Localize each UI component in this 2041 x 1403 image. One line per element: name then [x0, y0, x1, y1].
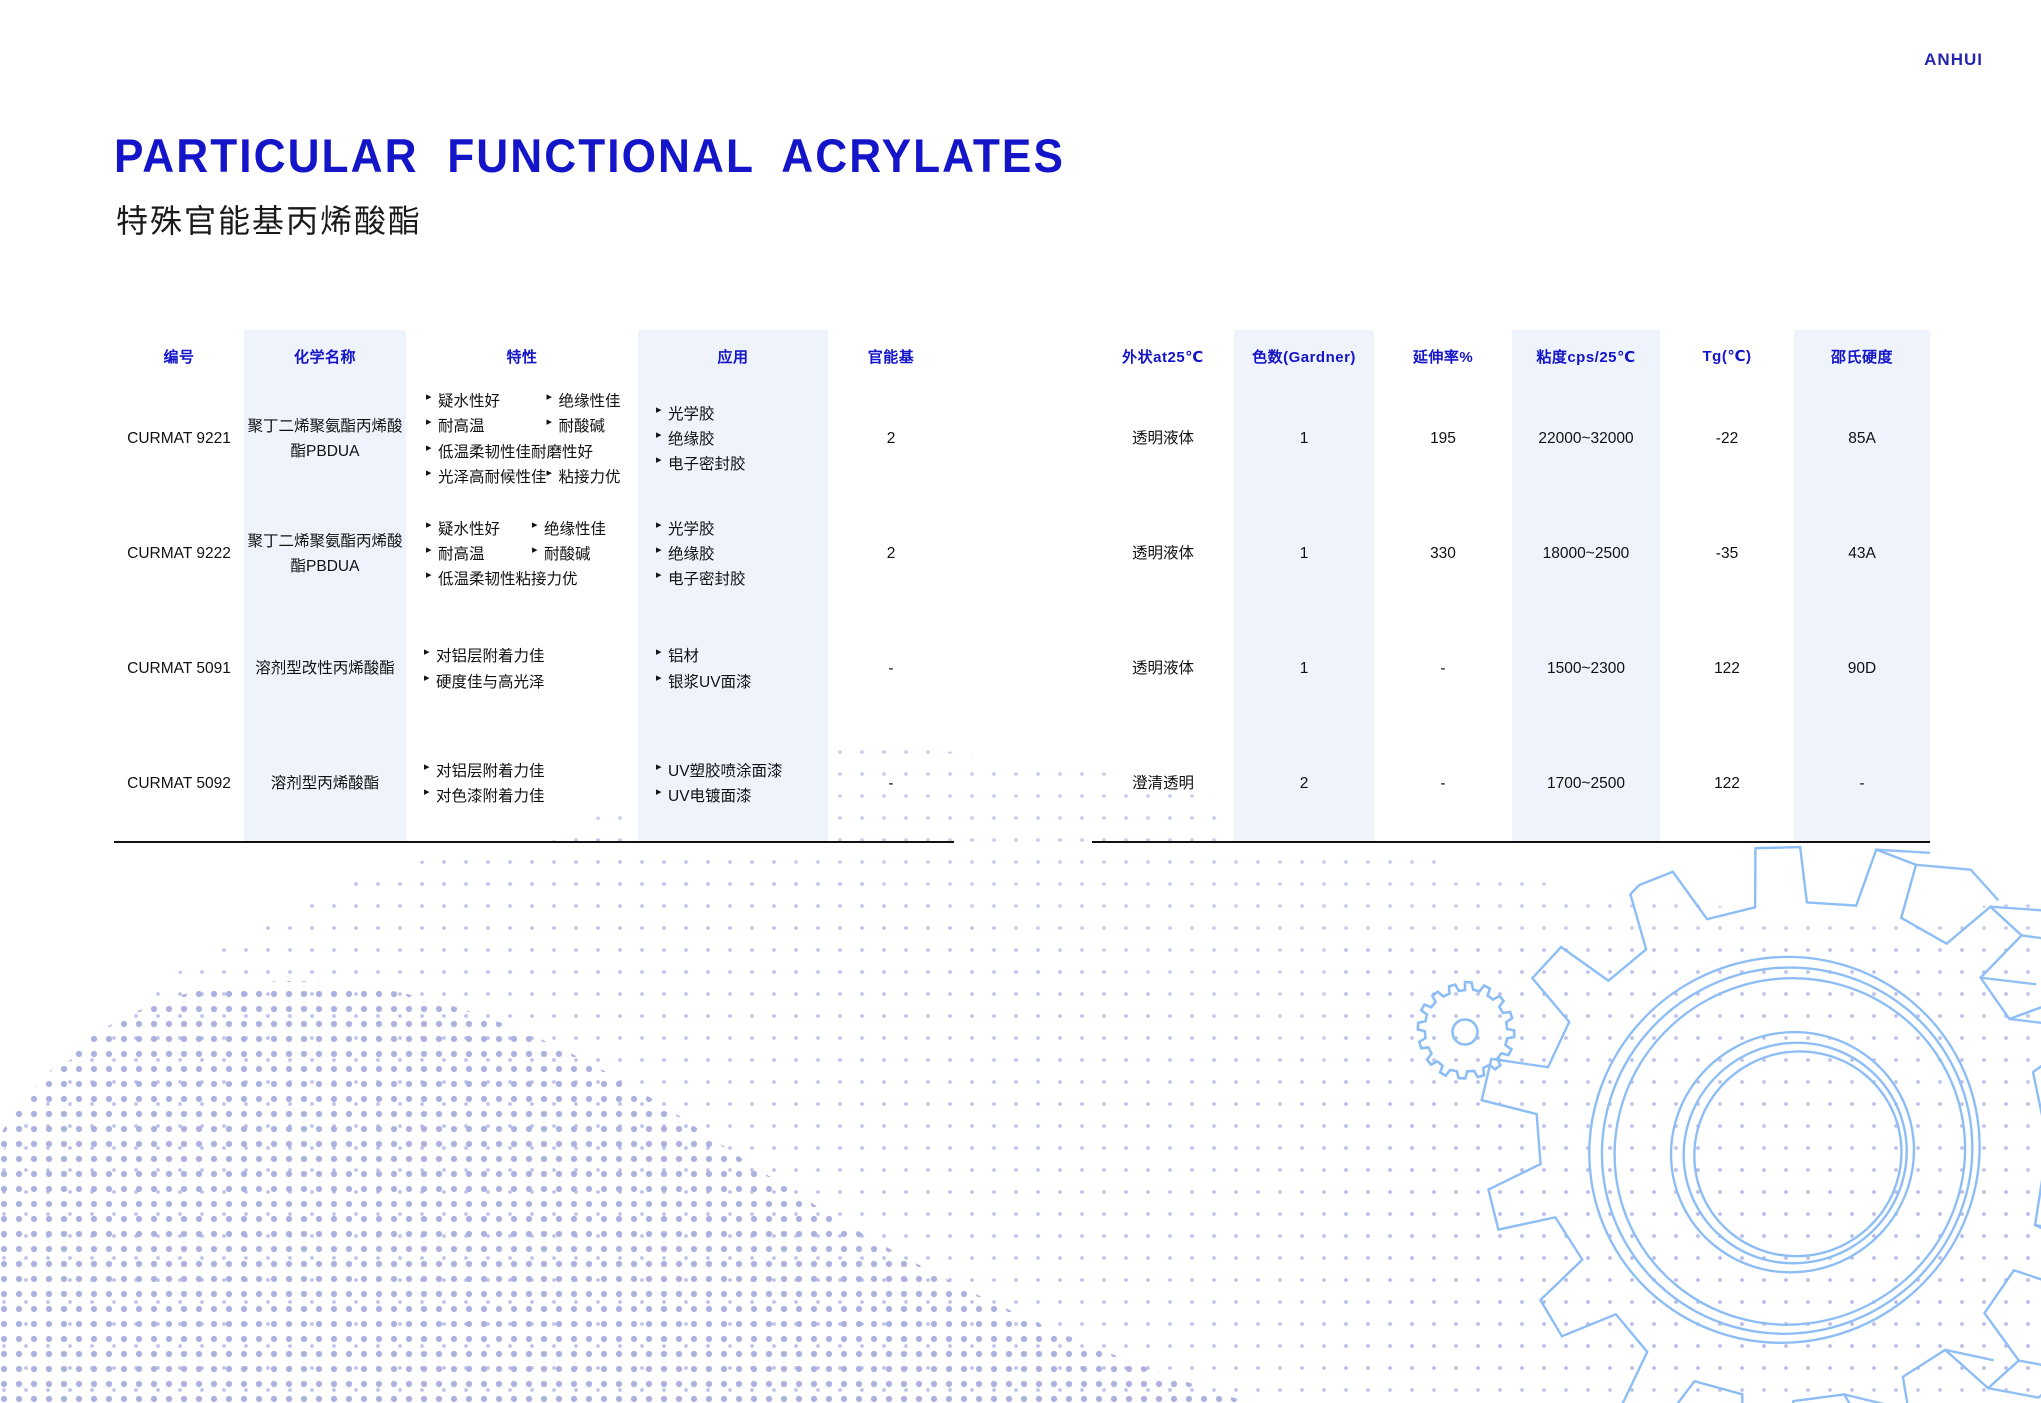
col-header-functionality: 官能基 — [828, 330, 954, 382]
cell-functionality: - — [828, 727, 954, 842]
feature-item: 对色漆附着力佳 — [424, 784, 638, 809]
cell-elongation: 330 — [1374, 497, 1512, 612]
table-row: CURMAT 5092 溶剂型丙烯酸酯 对铝层附着力佳 对色漆附着力佳 UV塑胶… — [114, 727, 954, 842]
application-item: 银浆UV面漆 — [656, 670, 828, 695]
feature-list: 对铝层附着力佳 硬度佳与高光泽 — [406, 644, 638, 694]
cell-viscosity: 1700~2500 — [1512, 727, 1660, 842]
cell-shore-hardness: 43A — [1794, 497, 1930, 612]
cell-elongation: - — [1374, 727, 1512, 842]
cell-shore-hardness: 85A — [1794, 382, 1930, 497]
feature-item: 耐酸碱 — [547, 414, 638, 439]
col-header-elongation: 延伸率% — [1374, 330, 1512, 382]
cell-functionality: 2 — [828, 497, 954, 612]
cell-appearance: 澄清透明 — [1092, 727, 1234, 842]
feature-item: 疑水性好 — [426, 517, 532, 542]
col-header-viscosity: 粘度cps/25℃ — [1512, 330, 1660, 382]
feature-item: 对铝层附着力佳 — [424, 644, 638, 669]
dot-field-right — [1330, 940, 2030, 1380]
table-row: CURMAT 5091 溶剂型改性丙烯酸酯 对铝层附着力佳 硬度佳与高光泽 铝材… — [114, 612, 954, 727]
table-row: 透明液体 1 330 18000~2500 -35 43A — [1092, 497, 1930, 612]
feature-item: 对铝层附着力佳 — [424, 759, 638, 784]
cell-chemical-name: 溶剂型丙烯酸酯 — [244, 727, 406, 842]
cell-viscosity: 1500~2300 — [1512, 612, 1660, 727]
application-item: 绝缘胶 — [656, 427, 828, 452]
cell-appearance: 透明液体 — [1092, 612, 1234, 727]
cell-appearance: 透明液体 — [1092, 497, 1234, 612]
feature-item: 耐高温 — [426, 414, 547, 439]
cell-functionality: - — [828, 612, 954, 727]
cell-code: CURMAT 5092 — [114, 727, 244, 842]
col-header-chemical-name: 化学名称 — [244, 330, 406, 382]
spec-table-left: 编号 化学名称 特性 应用 官能基 CURMAT 9221 聚丁二烯聚氨酯丙烯酸… — [114, 330, 954, 843]
company-logo: ANHUI — [1924, 50, 1983, 70]
application-list: 铝材 银浆UV面漆 — [638, 644, 828, 694]
table-row: CURMAT 9221 聚丁二烯聚氨酯丙烯酸酯PBDUA 疑水性好 绝缘性佳 耐… — [114, 382, 954, 497]
application-item: 铝材 — [656, 644, 828, 669]
col-header-features: 特性 — [406, 330, 638, 382]
feature-item: 耐酸碱 — [532, 542, 638, 567]
cell-appearance: 透明液体 — [1092, 382, 1234, 497]
cell-features: 疑水性好 绝缘性佳 耐高温 耐酸碱 低温柔韧性佳耐磨性好 光泽高耐候性佳 粘接力… — [406, 382, 638, 497]
property-table-right: 外状at25℃ 色数(Gardner) 延伸率% 粘度cps/25℃ Tg(℃)… — [1092, 330, 1930, 843]
cell-applications: UV塑胶喷涂面漆 UV电镀面漆 — [638, 727, 828, 842]
cell-tg: 122 — [1660, 727, 1794, 842]
table-left-body: CURMAT 9221 聚丁二烯聚氨酯丙烯酸酯PBDUA 疑水性好 绝缘性佳 耐… — [114, 382, 954, 842]
col-header-shore-hardness: 邵氏硬度 — [1794, 330, 1930, 382]
gear-small-icon — [1418, 982, 1514, 1078]
feature-list: 疑水性好 绝缘性佳 耐高温 耐酸碱 低温柔韧性粘接力优 — [406, 517, 638, 592]
cell-chemical-name: 聚丁二烯聚氨酯丙烯酸酯PBDUA — [244, 382, 406, 497]
page-subtitle: 特殊官能基丙烯酸酯 — [116, 196, 422, 242]
cell-shore-hardness: 90D — [1794, 612, 1930, 727]
table-right-header-row: 外状at25℃ 色数(Gardner) 延伸率% 粘度cps/25℃ Tg(℃)… — [1092, 330, 1930, 382]
feature-item: 绝缘性佳 — [532, 517, 638, 542]
cell-code: CURMAT 9222 — [114, 497, 244, 612]
product-table-left: 编号 化学名称 特性 应用 官能基 CURMAT 9221 聚丁二烯聚氨酯丙烯酸… — [114, 330, 954, 843]
table-left-head: 编号 化学名称 特性 应用 官能基 — [114, 330, 954, 382]
table-left-header-row: 编号 化学名称 特性 应用 官能基 — [114, 330, 954, 382]
application-item: 电子密封胶 — [656, 452, 828, 477]
col-header-code: 编号 — [114, 330, 244, 382]
cell-features: 对铝层附着力佳 硬度佳与高光泽 — [406, 612, 638, 727]
application-list: 光学胶 绝缘胶 电子密封胶 — [638, 517, 828, 592]
application-item: UV塑胶喷涂面漆 — [656, 759, 828, 784]
dot-wave-pattern — [0, 760, 2041, 1403]
application-item: 光学胶 — [656, 402, 828, 427]
cell-tg: -35 — [1660, 497, 1794, 612]
page-title: PARTICULAR FUNCTIONAL ACRYLATES — [114, 128, 1065, 183]
cell-features: 疑水性好 绝缘性佳 耐高温 耐酸碱 低温柔韧性粘接力优 — [406, 497, 638, 612]
cell-shore-hardness: - — [1794, 727, 1930, 842]
feature-item: 疑水性好 — [426, 389, 547, 414]
cell-viscosity: 22000~32000 — [1512, 382, 1660, 497]
application-list: 光学胶 绝缘胶 电子密封胶 — [638, 402, 828, 477]
application-item: 光学胶 — [656, 517, 828, 542]
application-item: 电子密封胶 — [656, 567, 828, 592]
feature-list: 对铝层附着力佳 对色漆附着力佳 — [406, 759, 638, 809]
cell-functionality: 2 — [828, 382, 954, 497]
table-row: CURMAT 9222 聚丁二烯聚氨酯丙烯酸酯PBDUA 疑水性好 绝缘性佳 耐… — [114, 497, 954, 612]
col-header-appearance: 外状at25℃ — [1092, 330, 1234, 382]
table-row: 透明液体 1 - 1500~2300 122 90D — [1092, 612, 1930, 727]
col-header-tg: Tg(℃) — [1660, 330, 1794, 382]
cell-color-gardner: 1 — [1234, 497, 1374, 612]
cell-elongation: - — [1374, 612, 1512, 727]
cell-color-gardner: 1 — [1234, 612, 1374, 727]
feature-item: 耐高温 — [426, 542, 532, 567]
cell-applications: 铝材 银浆UV面漆 — [638, 612, 828, 727]
cell-viscosity: 18000~2500 — [1512, 497, 1660, 612]
feature-item: 低温柔韧性佳耐磨性好 — [426, 440, 638, 465]
feature-item: 硬度佳与高光泽 — [424, 670, 638, 695]
cell-tg: 122 — [1660, 612, 1794, 727]
cell-color-gardner: 2 — [1234, 727, 1374, 842]
cell-applications: 光学胶 绝缘胶 电子密封胶 — [638, 382, 828, 497]
application-list: UV塑胶喷涂面漆 UV电镀面漆 — [638, 759, 828, 809]
table-right-body: 透明液体 1 195 22000~32000 -22 85A 透明液体 1 33… — [1092, 382, 1930, 842]
table-row: 澄清透明 2 - 1700~2500 122 - — [1092, 727, 1930, 842]
cell-applications: 光学胶 绝缘胶 电子密封胶 — [638, 497, 828, 612]
feature-item: 粘接力优 — [547, 465, 638, 490]
cell-features: 对铝层附着力佳 对色漆附着力佳 — [406, 727, 638, 842]
cell-elongation: 195 — [1374, 382, 1512, 497]
application-item: UV电镀面漆 — [656, 784, 828, 809]
cell-code: CURMAT 9221 — [114, 382, 244, 497]
spec-table-right: 外状at25℃ 色数(Gardner) 延伸率% 粘度cps/25℃ Tg(℃)… — [1092, 330, 1930, 843]
page-root: { "logo": { "text": "ANHUI" }, "header":… — [0, 0, 2041, 1403]
feature-item: 光泽高耐候性佳 — [426, 465, 547, 490]
feature-list: 疑水性好 绝缘性佳 耐高温 耐酸碱 低温柔韧性佳耐磨性好 光泽高耐候性佳 粘接力… — [406, 389, 638, 489]
col-header-color-gardner: 色数(Gardner) — [1234, 330, 1374, 382]
cell-chemical-name: 聚丁二烯聚氨酯丙烯酸酯PBDUA — [244, 497, 406, 612]
feature-item: 低温柔韧性粘接力优 — [426, 567, 638, 592]
application-item: 绝缘胶 — [656, 542, 828, 567]
feature-item: 绝缘性佳 — [547, 389, 638, 414]
cell-chemical-name: 溶剂型改性丙烯酸酯 — [244, 612, 406, 727]
cell-code: CURMAT 5091 — [114, 612, 244, 727]
cell-tg: -22 — [1660, 382, 1794, 497]
table-right-head: 外状at25℃ 色数(Gardner) 延伸率% 粘度cps/25℃ Tg(℃)… — [1092, 330, 1930, 382]
table-row: 透明液体 1 195 22000~32000 -22 85A — [1092, 382, 1930, 497]
col-header-applications: 应用 — [638, 330, 828, 382]
cell-color-gardner: 1 — [1234, 382, 1374, 497]
